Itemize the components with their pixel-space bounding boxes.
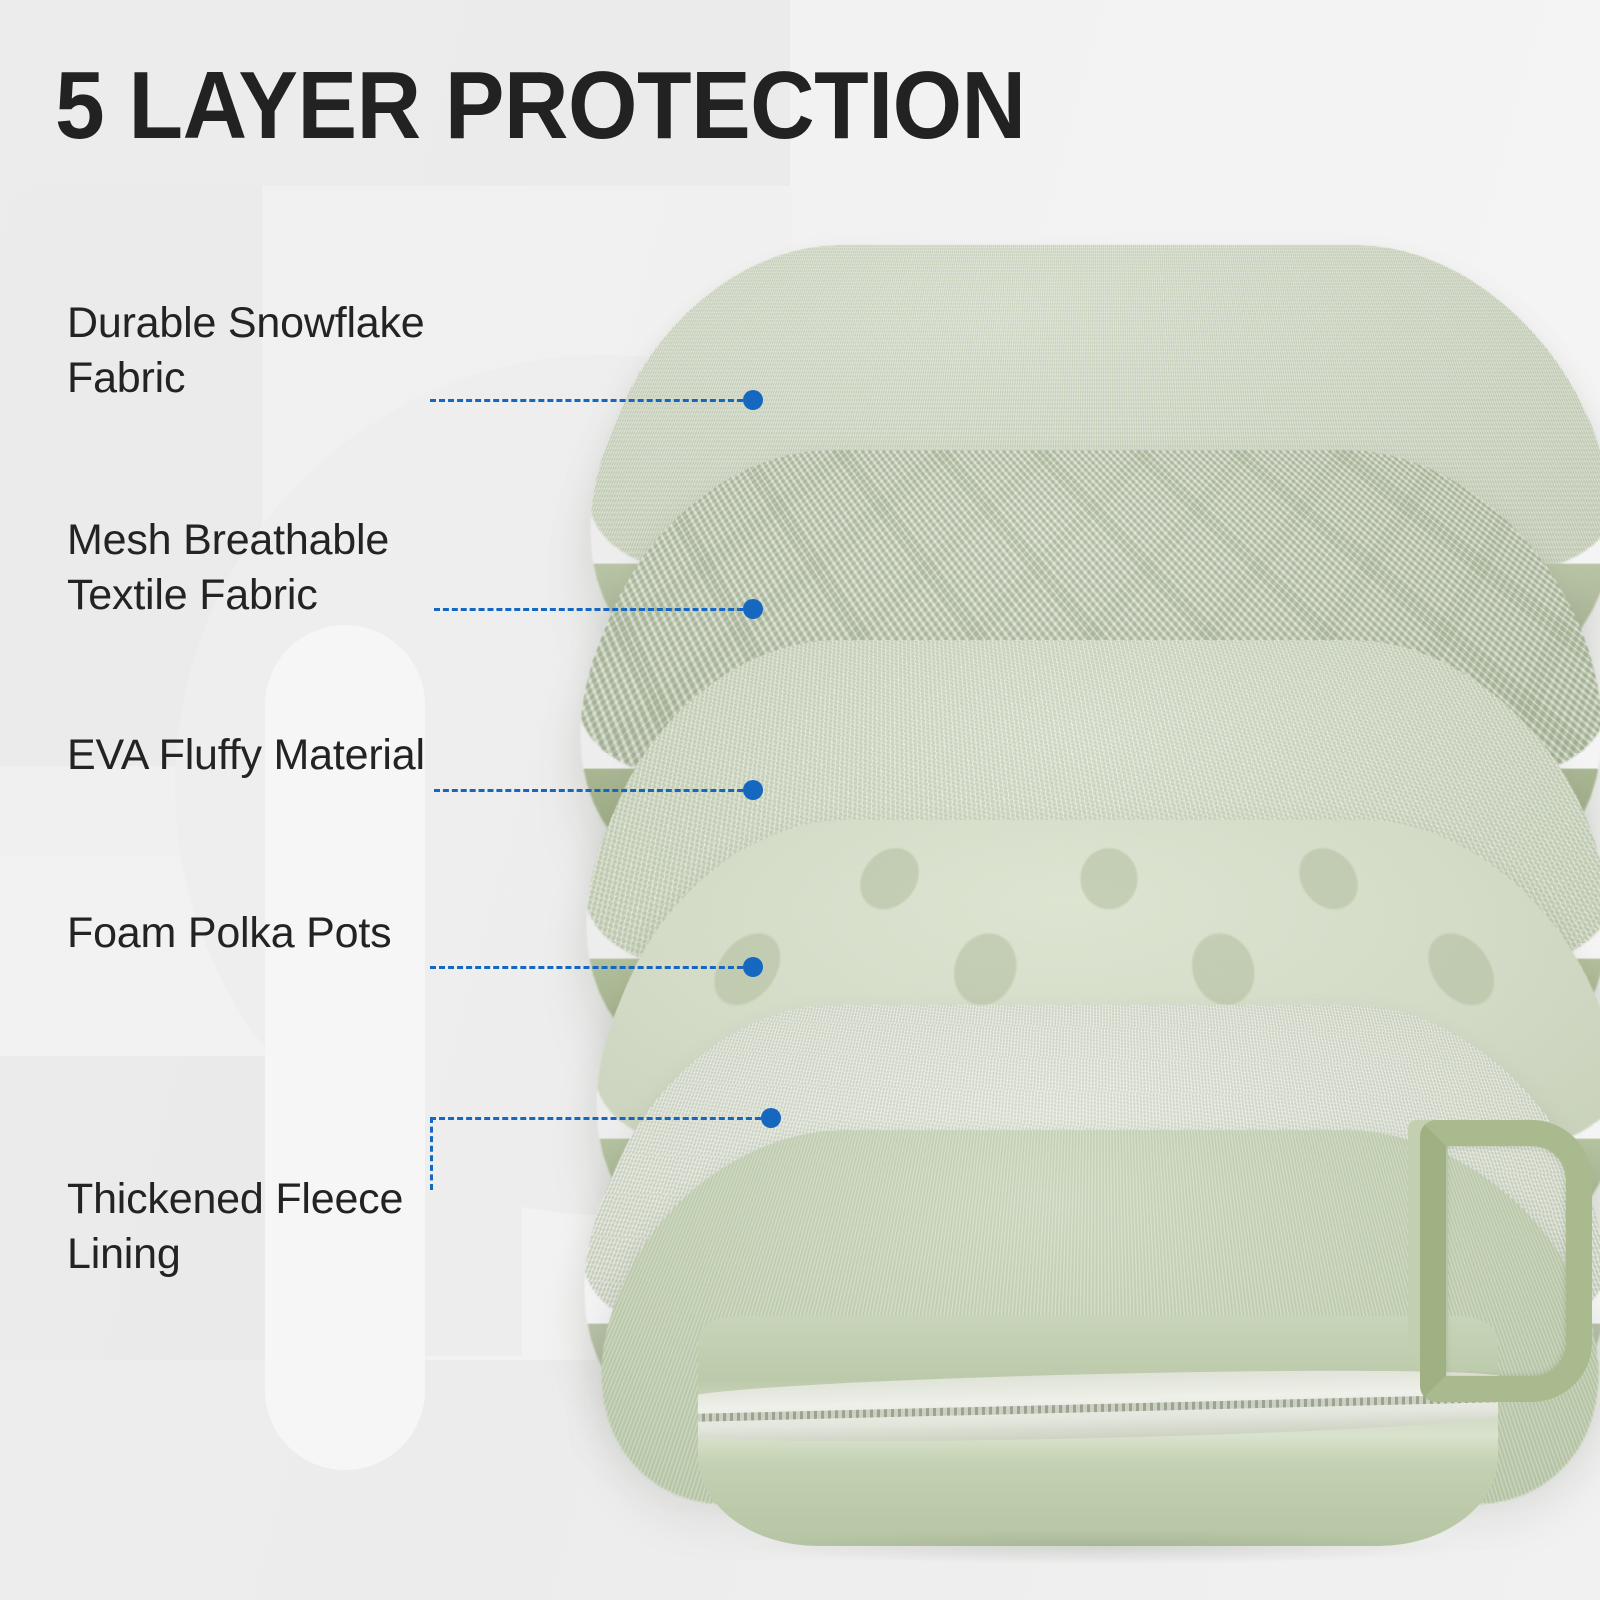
- layer-label-mesh-textile: Mesh Breathable Textile Fabric: [67, 513, 389, 623]
- leader-dot-icon-5: [761, 1108, 781, 1128]
- infographic-canvas: 5 LAYER PROTECTION: [0, 0, 1600, 1600]
- leader-line-icon-5-vertical: [430, 1117, 433, 1190]
- leader-line-icon-2: [434, 608, 752, 611]
- case-body: [698, 1316, 1498, 1546]
- leader-line-icon-4: [430, 966, 752, 969]
- product-layer-stack: [660, 245, 1600, 1585]
- layer-label-snowflake-fabric: Durable Snowflake Fabric: [67, 296, 425, 406]
- leader-line-icon-1: [430, 399, 752, 402]
- leader-dot-icon-3: [743, 780, 763, 800]
- product-case: [680, 1130, 1520, 1560]
- layer-label-fleece-lining: Thickened Fleece Lining: [67, 1172, 403, 1282]
- layer-label-foam-polka-pots: Foam Polka Pots: [67, 906, 391, 961]
- case-drop-shadow: [740, 1530, 1460, 1564]
- leader-line-icon-5: [430, 1117, 770, 1120]
- page-title: 5 LAYER PROTECTION: [55, 58, 1026, 154]
- leader-dot-icon-4: [743, 957, 763, 977]
- leader-line-icon-3: [434, 789, 752, 792]
- carry-handle-loop: [1420, 1120, 1592, 1402]
- leader-dot-icon-2: [743, 599, 763, 619]
- layer-label-eva-fluffy: EVA Fluffy Material: [67, 728, 425, 783]
- leader-dot-icon-1: [743, 390, 763, 410]
